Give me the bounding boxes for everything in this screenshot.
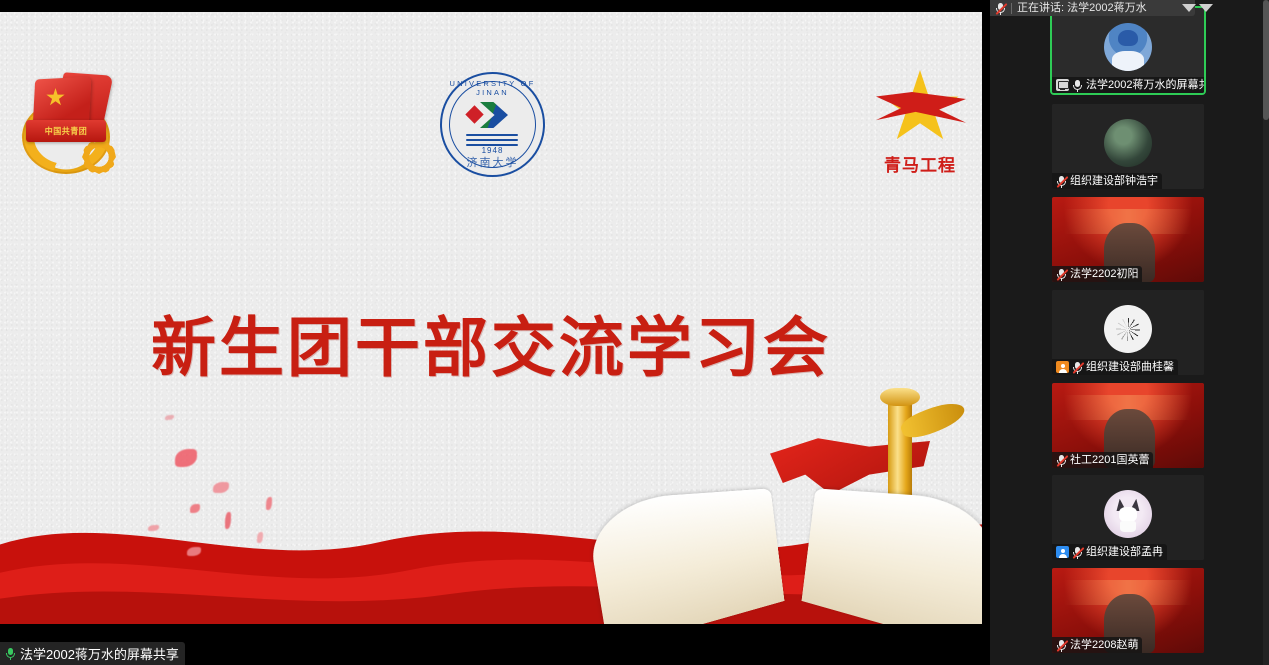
cat-face bbox=[1119, 507, 1136, 521]
chevron-down-icon[interactable] bbox=[1182, 4, 1196, 12]
active-speaker-banner: 正在讲话: 法学2002蒋万水 bbox=[990, 0, 1195, 16]
avatar bbox=[1104, 490, 1152, 538]
presentation-slide: 中国共青团 UNIVERSITY OF JINAN 1948 济南大学 bbox=[0, 12, 982, 624]
avatar-hair bbox=[1118, 30, 1137, 46]
mic-muted-icon bbox=[1056, 175, 1067, 188]
host-badge-icon bbox=[1056, 361, 1069, 373]
avatar bbox=[1104, 305, 1152, 353]
tile-name-label: 法学2208赵萌 bbox=[1052, 637, 1142, 653]
book-page-left bbox=[584, 488, 785, 624]
book-page-right bbox=[802, 488, 982, 624]
participant-tile[interactable]: 法学2202初阳 bbox=[1052, 197, 1204, 282]
meeting-window: 中国共青团 UNIVERSITY OF JINAN 1948 济南大学 bbox=[0, 0, 1269, 665]
communist-youth-league-emblem-icon: 中国共青团 bbox=[18, 70, 114, 178]
participant-name: 组织建设部钟浩宇 bbox=[1070, 176, 1158, 187]
participant-name: 组织建设部曲桂馨 bbox=[1086, 362, 1174, 373]
avatar-body bbox=[1112, 51, 1145, 71]
chevron-down-icon[interactable] bbox=[1199, 4, 1213, 12]
avatar bbox=[1104, 23, 1152, 71]
avatar bbox=[1104, 119, 1152, 167]
participant-name: 法学2002蒋万水的屏幕共享 bbox=[1086, 80, 1204, 91]
page-title: 新生团干部交流学习会 bbox=[0, 295, 982, 389]
participant-tile[interactable]: 组织建设部钟浩宇 bbox=[1052, 104, 1204, 189]
ujn-chinese-text: 济南大学 bbox=[440, 154, 545, 170]
tile-name-label: 组织建设部曲桂馨 bbox=[1052, 359, 1178, 375]
divider bbox=[1011, 3, 1012, 14]
university-of-jinan-logo-icon: UNIVERSITY OF JINAN 1948 济南大学 bbox=[440, 72, 545, 177]
participant-tile[interactable]: 组织建设部曲桂馨 bbox=[1052, 290, 1204, 375]
cohost-badge-icon bbox=[1056, 546, 1069, 558]
vertical-scrollbar[interactable] bbox=[1263, 0, 1269, 120]
tile-name-label: 法学2002蒋万水的屏幕共享 bbox=[1052, 77, 1204, 93]
participant-tile[interactable]: 法学2002蒋万水的屏幕共享 bbox=[1052, 8, 1204, 93]
tile-name-label: 组织建设部孟冉 bbox=[1052, 544, 1167, 560]
tile-name-label: 法学2202初阳 bbox=[1052, 266, 1142, 282]
young-marxist-project-logo-icon: 青马工程 bbox=[872, 70, 968, 178]
screen-share-status-bar: 法学2002蒋万水的屏幕共享 bbox=[0, 642, 185, 665]
cat-body bbox=[1120, 521, 1135, 533]
participant-tile[interactable]: 组织建设部孟冉 bbox=[1052, 475, 1204, 560]
mic-muted-icon bbox=[995, 2, 1006, 15]
shared-screen-region[interactable]: 中国共青团 UNIVERSITY OF JINAN 1948 济南大学 bbox=[0, 0, 990, 665]
participant-tile[interactable]: 法学2208赵萌 bbox=[1052, 568, 1204, 653]
screen-share-label: 法学2002蒋万水的屏幕共享 bbox=[20, 644, 179, 663]
mic-muted-icon bbox=[1056, 268, 1067, 281]
participant-name: 法学2202初阳 bbox=[1070, 269, 1138, 280]
microphone-icon bbox=[1072, 79, 1083, 92]
mic-muted-icon bbox=[1072, 546, 1083, 559]
mic-muted-icon bbox=[1072, 361, 1083, 374]
participant-tile[interactable]: 社工2201国英蕾 bbox=[1052, 383, 1204, 468]
petal-icon bbox=[165, 415, 174, 420]
huabiao-cap-icon bbox=[880, 388, 920, 406]
spinner-icon bbox=[1116, 318, 1139, 341]
qingma-text: 青马工程 bbox=[872, 151, 968, 176]
mic-muted-icon bbox=[1056, 639, 1067, 652]
cyl-banner-text: 中国共青团 bbox=[45, 125, 88, 137]
tile-name-label: 组织建设部钟浩宇 bbox=[1052, 173, 1162, 189]
active-speaker-text: 正在讲话: 法学2002蒋万水 bbox=[1017, 3, 1147, 14]
screen-share-icon bbox=[1056, 79, 1069, 91]
ujn-english-text: UNIVERSITY OF JINAN bbox=[440, 79, 545, 97]
participant-name: 组织建设部孟冉 bbox=[1086, 547, 1163, 558]
microphone-green-icon bbox=[5, 647, 16, 660]
chevron-down-icon-group[interactable] bbox=[1182, 0, 1213, 16]
mic-muted-icon bbox=[1056, 454, 1067, 467]
participant-filmstrip[interactable]: 法学2002蒋万水的屏幕共享组织建设部钟浩宇法学2202初阳组织建设部曲桂馨社工… bbox=[990, 0, 1269, 665]
open-book-illustration bbox=[600, 394, 982, 624]
petal-icon bbox=[175, 449, 197, 467]
tile-name-label: 社工2201国英蕾 bbox=[1052, 452, 1153, 468]
participant-name: 法学2208赵萌 bbox=[1070, 640, 1138, 651]
participant-name: 社工2201国英蕾 bbox=[1070, 455, 1149, 466]
